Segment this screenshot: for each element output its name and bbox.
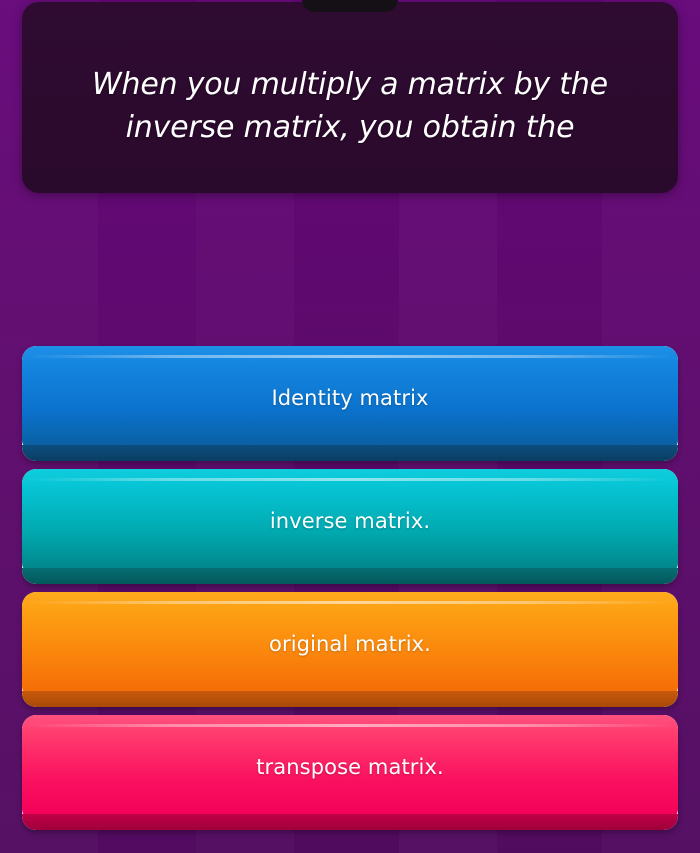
- answer-option-1-face: [22, 346, 678, 450]
- answer-option-4[interactable]: transpose matrix.: [22, 715, 678, 830]
- answer-option-2-bevel: [22, 568, 678, 584]
- answer-option-2-face: [22, 469, 678, 573]
- answer-option-4-face: [22, 715, 678, 819]
- answer-option-3[interactable]: original matrix.: [22, 592, 678, 707]
- answer-option-1[interactable]: Identity matrix: [22, 346, 678, 461]
- quiz-screen: When you multiply a matrix by the invers…: [0, 0, 700, 853]
- answer-options-list: Identity matrix inverse matrix. original…: [0, 346, 700, 838]
- answer-option-3-bevel: [22, 691, 678, 707]
- question-text: When you multiply a matrix by the invers…: [48, 54, 652, 149]
- question-card: When you multiply a matrix by the invers…: [22, 2, 678, 193]
- answer-option-1-bevel: [22, 445, 678, 461]
- answer-option-2[interactable]: inverse matrix.: [22, 469, 678, 584]
- answer-option-3-face: [22, 592, 678, 696]
- answer-option-4-bevel: [22, 814, 678, 830]
- status-pill: [302, 0, 398, 12]
